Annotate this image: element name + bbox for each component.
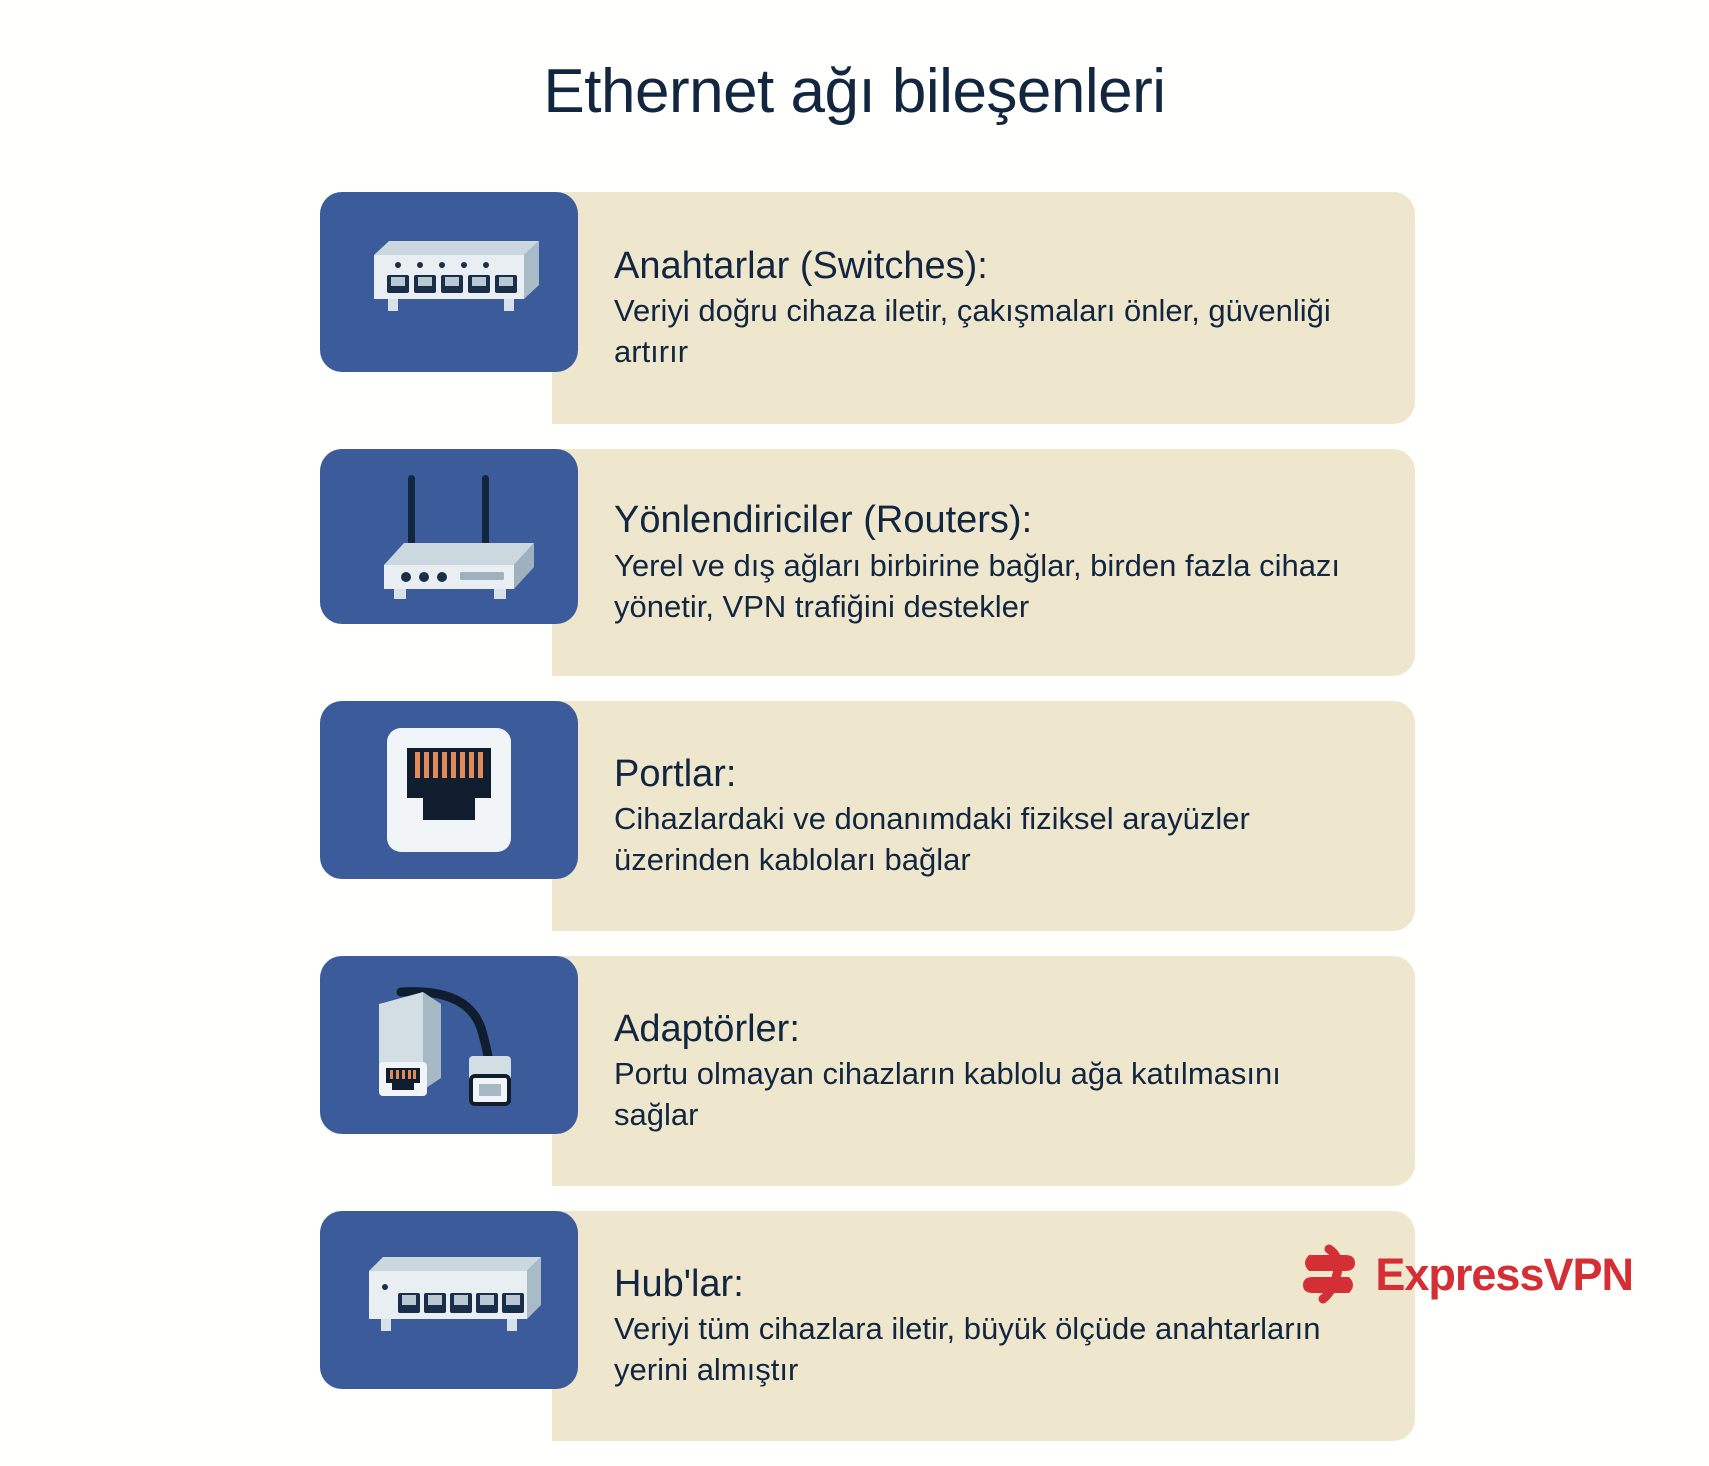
expressvpn-logo-text: ExpressVPN [1375, 1252, 1633, 1297]
ethernet-hub-icon [351, 1245, 547, 1355]
card-icon-panel [320, 956, 578, 1134]
card-heading: Yönlendiriciler (Routers): [614, 497, 1375, 543]
card-heading: Adaptörler: [614, 1006, 1375, 1052]
card-icon-panel [320, 701, 578, 879]
component-card: Anahtarlar (Switches): Veriyi doğru ciha… [320, 192, 1415, 424]
ethernet-port-icon [383, 724, 515, 856]
card-description: Yerel ve dış ağları birbirine bağlar, bi… [614, 546, 1344, 628]
component-card-list: Anahtarlar (Switches): Veriyi doğru ciha… [320, 192, 1415, 1466]
card-description: Portu olmayan cihazların kablolu ağa kat… [614, 1054, 1344, 1136]
card-content-panel: Adaptörler: Portu olmayan cihazların kab… [552, 956, 1415, 1186]
component-card: Hub'lar: Veriyi tüm cihazlara iletir, bü… [320, 1211, 1415, 1441]
card-heading: Hub'lar: [614, 1261, 1375, 1307]
usb-ethernet-adapter-icon [349, 970, 549, 1120]
component-card: Portlar: Cihazlardaki ve donanımdaki fiz… [320, 701, 1415, 931]
card-content-panel: Yönlendiriciler (Routers): Yerel ve dış … [552, 449, 1415, 676]
card-icon-panel [320, 449, 578, 624]
card-description: Cihazlardaki ve donanımdaki fiziksel ara… [614, 799, 1344, 881]
ethernet-switch-icon [354, 227, 544, 337]
card-icon-panel [320, 1211, 578, 1389]
card-content-panel: Anahtarlar (Switches): Veriyi doğru ciha… [552, 192, 1415, 424]
component-card: Yönlendiriciler (Routers): Yerel ve dış … [320, 449, 1415, 676]
card-description: Veriyi doğru cihaza iletir, çakışmaları … [614, 291, 1344, 373]
card-description: Veriyi tüm cihazlara iletir, büyük ölçüd… [614, 1309, 1344, 1391]
card-heading: Portlar: [614, 751, 1375, 797]
expressvpn-logo-mark-icon [1299, 1243, 1365, 1305]
card-content-panel: Hub'lar: Veriyi tüm cihazlara iletir, bü… [552, 1211, 1415, 1441]
card-content-panel: Portlar: Cihazlardaki ve donanımdaki fiz… [552, 701, 1415, 931]
infographic-page: Ethernet ağı bileşenleri [0, 0, 1709, 1385]
expressvpn-logo: ExpressVPN [1299, 1243, 1633, 1305]
card-heading: Anahtarlar (Switches): [614, 243, 1375, 289]
wifi-router-icon [354, 467, 544, 607]
page-title: Ethernet ağı bileşenleri [0, 56, 1709, 127]
card-icon-panel [320, 192, 578, 372]
component-card: Adaptörler: Portu olmayan cihazların kab… [320, 956, 1415, 1186]
